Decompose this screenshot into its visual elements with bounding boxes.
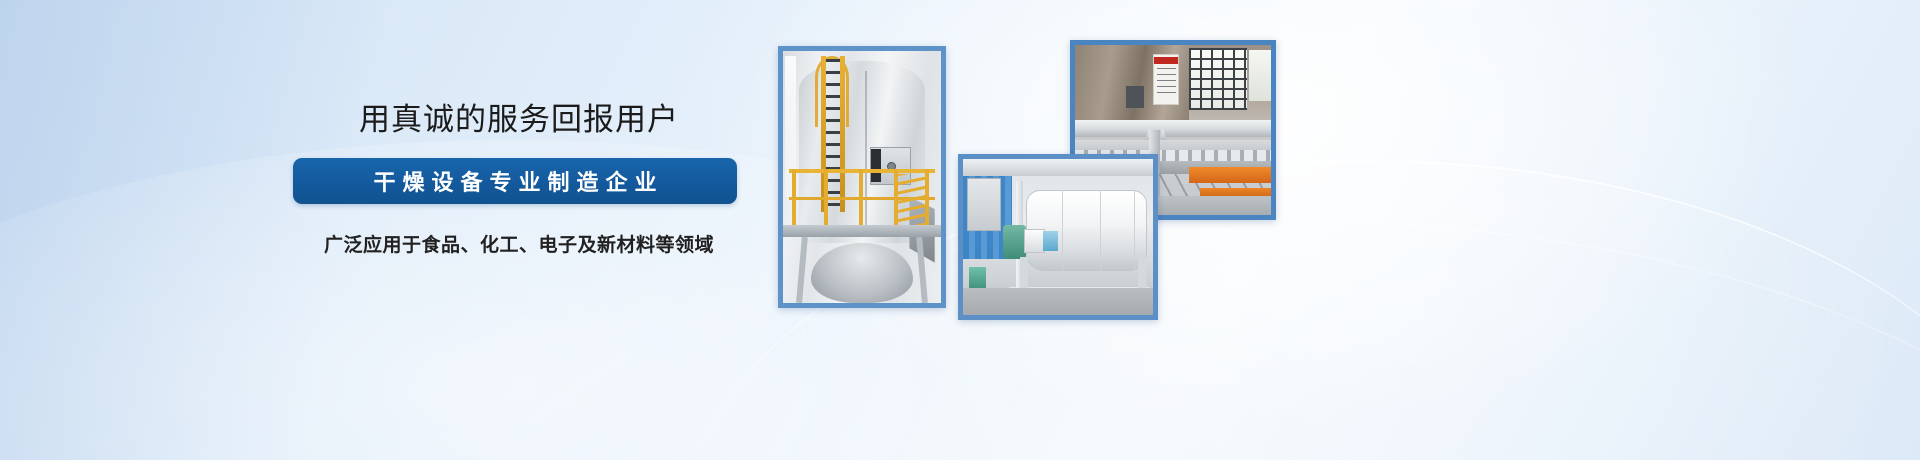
rail-post <box>824 169 828 227</box>
banner-subline: 广泛应用于食品、化工、电子及新材料等领域 <box>293 230 745 257</box>
photo-content <box>963 159 1153 315</box>
ladder-rail-right <box>840 56 845 212</box>
banner-copy-block: 用真诚的服务回报用户 干燥设备专业制造企业 广泛应用于食品、化工、电子及新材料等… <box>293 104 745 257</box>
drum-seam <box>1062 190 1063 271</box>
tower-seam <box>865 71 867 227</box>
sign-text-lines <box>1157 68 1176 97</box>
rail-post <box>792 169 796 227</box>
orange-frame-rail <box>1189 167 1271 182</box>
spray-dryer-tower-photo[interactable] <box>778 46 946 308</box>
drum-seam <box>1100 190 1101 271</box>
access-stair <box>894 174 929 229</box>
mixer-support-leg <box>1138 257 1146 288</box>
overhead-beam <box>1075 120 1271 137</box>
drum-seam <box>1134 190 1135 271</box>
promo-banner: 用真诚的服务回报用户 干燥设备专业制造企业 广泛应用于食品、化工、电子及新材料等… <box>0 0 1920 460</box>
gearbox <box>1043 231 1058 251</box>
safety-notice-board <box>1153 54 1178 105</box>
banner-tagline-label: 干燥设备专业制造企业 <box>366 165 663 197</box>
workshop-floor <box>963 288 1153 315</box>
wall-electrical-box <box>1126 86 1144 108</box>
sign-header-band <box>1154 57 1177 64</box>
ceiling-beam <box>963 159 1153 176</box>
horizontal-ribbon-mixer-photo[interactable] <box>958 154 1158 320</box>
service-platform-deck <box>783 225 941 238</box>
window-grille <box>1189 48 1248 109</box>
mixer-support-leg <box>1020 257 1028 288</box>
hatch-opening <box>871 149 880 182</box>
rail-post <box>859 169 863 227</box>
banner-headline: 用真诚的服务回报用户 <box>293 104 745 135</box>
motor-coupling <box>1024 229 1045 252</box>
photo-content <box>783 51 941 303</box>
banner-tagline-pill[interactable]: 干燥设备专业制造企业 <box>293 158 737 204</box>
workshop-door <box>967 178 1001 231</box>
factory-window-small <box>1249 50 1271 101</box>
drive-motor <box>1003 225 1026 259</box>
